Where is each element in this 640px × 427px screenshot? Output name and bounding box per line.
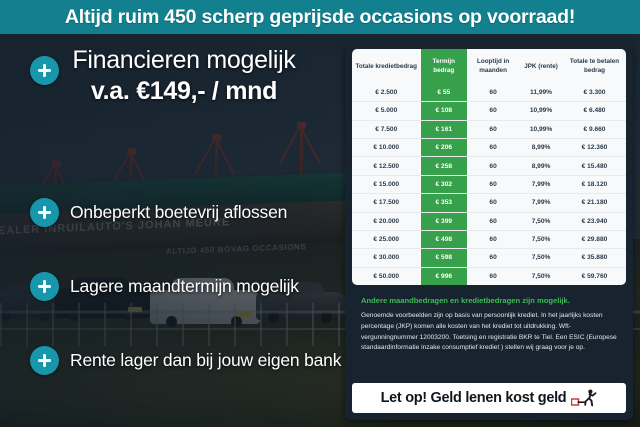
table-cell: € 161 [421, 120, 468, 138]
headline-line-2: v.a. €149,- / mnd [34, 75, 334, 108]
bullet-label: Rente lager dan bij jouw eigen bank [70, 350, 341, 371]
warning-text: Let op! Geld lenen kost geld [381, 390, 567, 406]
table-row: € 10.000€ 206608,99%€ 12.360 [352, 139, 626, 157]
credit-table: Totale kredietbedrag Termijn bedrag Loop… [352, 49, 626, 285]
table-cell: 60 [467, 139, 519, 157]
table-cell: € 108 [421, 102, 468, 120]
table-cell: 60 [467, 267, 519, 285]
table-row: € 2.500€ 556011,99%€ 3.300 [352, 84, 626, 102]
table-cell: € 302 [421, 175, 468, 193]
table-cell: 60 [467, 102, 519, 120]
running-man-warning-icon [571, 389, 597, 408]
disclaimer-body: Genoemde voorbeelden zijn op basis van p… [361, 311, 617, 354]
headline-block: Financieren mogelijk v.a. €149,- / mnd [34, 46, 334, 107]
table-cell: € 35.880 [563, 249, 626, 267]
table-cell: € 29.880 [563, 230, 626, 248]
table-cell: 7,50% [519, 267, 563, 285]
table-cell: € 23.940 [563, 212, 626, 230]
table-row: € 7.500€ 1616010,99%€ 9.660 [352, 120, 626, 138]
table-row: € 15.000€ 302607,99%€ 18.120 [352, 175, 626, 193]
table-header-cell: Looptijd in maanden [467, 49, 519, 84]
table-cell: € 996 [421, 267, 468, 285]
bullet-item-0: Onbeperkt boetevrij aflossen [30, 198, 360, 227]
table-cell: 7,50% [519, 230, 563, 248]
table-cell: € 10.000 [352, 139, 421, 157]
table-cell: 8,99% [519, 139, 563, 157]
table-cell: € 25.000 [352, 230, 421, 248]
table-cell: 7,50% [519, 212, 563, 230]
table-cell: 60 [467, 120, 519, 138]
table-cell: 7,99% [519, 175, 563, 193]
disclaimer-block: Andere maandbedragen en kredietbedragen … [352, 285, 626, 354]
table-cell: € 17.500 [352, 194, 421, 212]
table-cell: € 20.000 [352, 212, 421, 230]
table-header-row: Totale kredietbedrag Termijn bedrag Loop… [352, 49, 626, 84]
table-cell: € 598 [421, 249, 468, 267]
table-cell: € 6.480 [563, 102, 626, 120]
table-cell: € 55 [421, 84, 468, 102]
credit-table-card: Totale kredietbedrag Termijn bedrag Loop… [345, 42, 633, 420]
table-row: € 17.500€ 353607,99%€ 21.180 [352, 194, 626, 212]
table-row: € 20.000€ 399607,50%€ 23.940 [352, 212, 626, 230]
table-cell: 60 [467, 212, 519, 230]
table-cell: € 399 [421, 212, 468, 230]
table-cell: € 353 [421, 194, 468, 212]
table-row: € 50.000€ 996607,50%€ 59.760 [352, 267, 626, 285]
table-cell: 60 [467, 230, 519, 248]
plus-icon [30, 272, 59, 301]
plus-icon [30, 198, 59, 227]
table-cell: € 18.120 [563, 175, 626, 193]
credit-table-wrapper: Totale kredietbedrag Termijn bedrag Loop… [352, 49, 626, 285]
left-content-column: Financieren mogelijk v.a. €149,- / mnd O… [0, 34, 348, 427]
bullet-item-2: Rente lager dan bij jouw eigen bank [30, 346, 360, 375]
table-row: € 25.000€ 498607,50%€ 29.880 [352, 230, 626, 248]
table-cell: 10,99% [519, 102, 563, 120]
warning-bar: Let op! Geld lenen kost geld [352, 383, 626, 413]
table-cell: 10,99% [519, 120, 563, 138]
table-cell: 7,50% [519, 249, 563, 267]
table-cell: € 206 [421, 139, 468, 157]
table-cell: € 30.000 [352, 249, 421, 267]
table-cell: 7,99% [519, 194, 563, 212]
promo-banner-image: DEALER INRUILAUTO'S JOHAN MEURE ALTIJD 4… [0, 0, 640, 427]
banner-headline: Altijd ruim 450 scherp geprijsde occasio… [65, 6, 575, 29]
table-cell: 60 [467, 249, 519, 267]
table-cell: 60 [467, 194, 519, 212]
table-cell: 60 [467, 157, 519, 175]
disclaimer-title: Andere maandbedragen en kredietbedragen … [361, 296, 617, 306]
bullet-label: Lagere maandtermijn mogelijk [70, 276, 299, 297]
table-cell: 11,99% [519, 84, 563, 102]
table-header-cell: JPK (rente) [519, 49, 563, 84]
table-cell: € 12.500 [352, 157, 421, 175]
table-cell: € 5.000 [352, 102, 421, 120]
table-cell: € 21.180 [563, 194, 626, 212]
table-cell: 8,99% [519, 157, 563, 175]
table-cell: € 2.500 [352, 84, 421, 102]
top-banner: Altijd ruim 450 scherp geprijsde occasio… [0, 0, 640, 34]
table-cell: € 258 [421, 157, 468, 175]
table-row: € 30.000€ 598607,50%€ 35.880 [352, 249, 626, 267]
table-cell: 60 [467, 175, 519, 193]
table-header-cell: Termijn bedrag [421, 49, 468, 84]
table-cell: € 59.760 [563, 267, 626, 285]
table-cell: € 9.660 [563, 120, 626, 138]
headline-line-1: Financieren mogelijk [34, 46, 334, 75]
table-cell: € 3.300 [563, 84, 626, 102]
table-row: € 5.000€ 1086010,99%€ 6.480 [352, 102, 626, 120]
table-header-cell: Totale te betalen bedrag [563, 49, 626, 84]
table-cell: 60 [467, 84, 519, 102]
plus-icon [30, 346, 59, 375]
table-cell: € 15.480 [563, 157, 626, 175]
table-cell: € 7.500 [352, 120, 421, 138]
table-cell: € 12.360 [563, 139, 626, 157]
credit-table-body: € 2.500€ 556011,99%€ 3.300€ 5.000€ 10860… [352, 84, 626, 285]
bullet-item-1: Lagere maandtermijn mogelijk [30, 272, 360, 301]
table-cell: € 498 [421, 230, 468, 248]
table-header-cell: Totale kredietbedrag [352, 49, 421, 84]
bullet-label: Onbeperkt boetevrij aflossen [70, 202, 287, 223]
table-row: € 12.500€ 258608,99%€ 15.480 [352, 157, 626, 175]
table-cell: € 50.000 [352, 267, 421, 285]
table-cell: € 15.000 [352, 175, 421, 193]
